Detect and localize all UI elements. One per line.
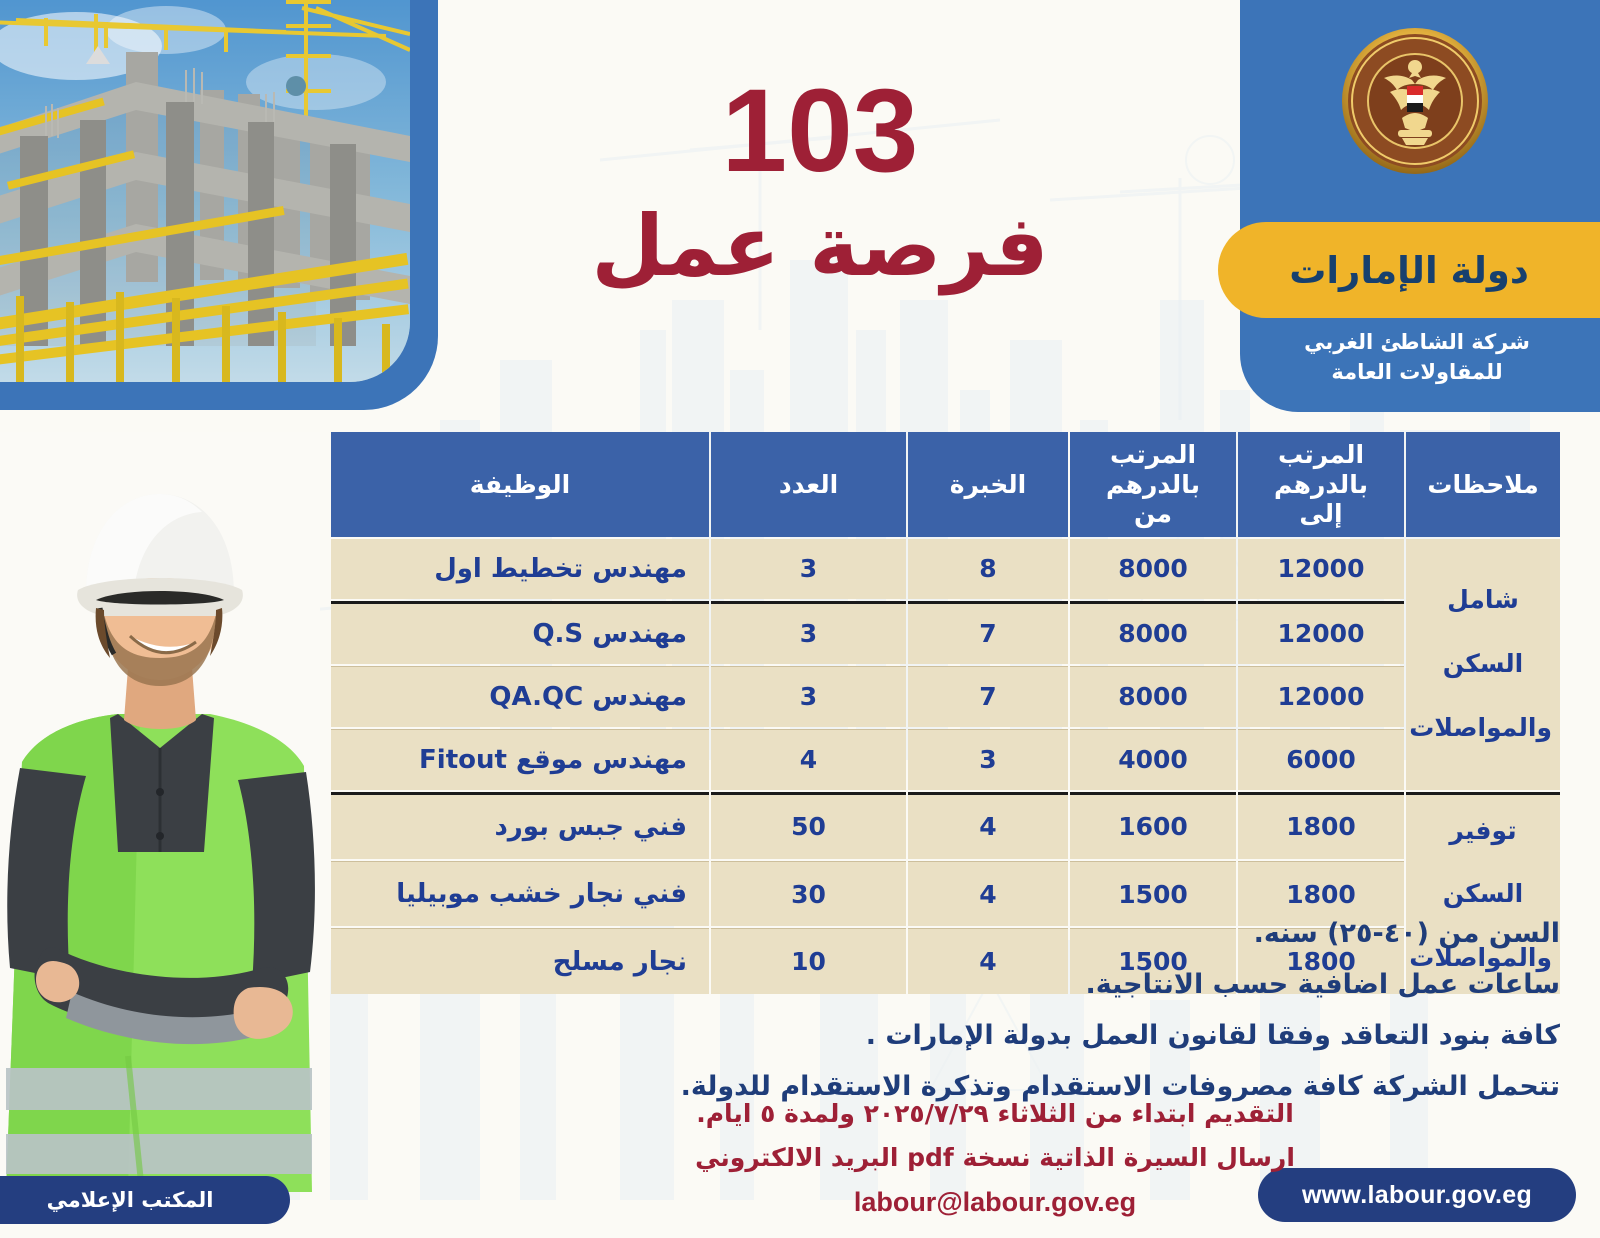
cell-salary-to: 6000 xyxy=(1238,729,1404,790)
construction-photo xyxy=(0,0,410,382)
col-header-salary-from-l2: بالدرهم xyxy=(1074,470,1232,500)
cell-salary-from: 1500 xyxy=(1070,861,1236,926)
company-name: شركة الشاطئ الغربي للمقاولات العامة xyxy=(1252,328,1582,388)
cell-salary-to: 1800 xyxy=(1238,792,1404,860)
cell-count: 3 xyxy=(711,539,906,599)
col-header-notes-l1: ملاحظات xyxy=(1410,470,1556,500)
cell-salary-from: 4000 xyxy=(1070,729,1236,790)
cell-count: 3 xyxy=(711,601,906,664)
col-header-salary-from-l3: من xyxy=(1074,499,1232,529)
cell-count: 30 xyxy=(711,861,906,926)
notes-group-cell: شامل السكن والمواصلات xyxy=(1406,539,1560,790)
cell-experience: 3 xyxy=(908,729,1068,790)
table-row: 1800 1500 4 30 فني نجار خشب موبيليا xyxy=(331,861,1560,926)
col-header-notes: ملاحظات xyxy=(1406,432,1560,537)
cell-salary-to: 1800 xyxy=(1238,861,1404,926)
apply-date-line: التقديم ابتداء من الثلاثاء ٢٠٢٥/٧/٢٩ ولم… xyxy=(430,1096,1560,1132)
notes-line: توفير xyxy=(1414,799,1552,863)
cell-count: 4 xyxy=(711,729,906,790)
col-header-experience: الخبرة xyxy=(908,432,1068,537)
cell-salary-from: 8000 xyxy=(1070,666,1236,727)
jobs-table-wrapper: ملاحظات المرتب بالدرهم إلى المرتب بالدره… xyxy=(343,430,1562,996)
cell-role: مهندس تخطيط اول xyxy=(331,539,709,599)
condition-item: السن من (٤٠-٢٥) سنه. xyxy=(560,920,1560,947)
cell-role: مهندس موقع Fitout xyxy=(331,729,709,790)
notes-line: السكن xyxy=(1414,862,1552,926)
cell-experience: 8 xyxy=(908,539,1068,599)
cell-salary-from: 1600 xyxy=(1070,792,1236,860)
col-header-salary-from-l1: المرتب xyxy=(1074,440,1232,470)
country-banner: دولة الإمارات xyxy=(1218,222,1600,318)
cell-salary-to: 12000 xyxy=(1238,601,1404,664)
cell-salary-to: 12000 xyxy=(1238,666,1404,727)
table-row: 12000 8000 7 3 مهندس Q.S xyxy=(331,601,1560,664)
cell-experience: 7 xyxy=(908,601,1068,664)
notes-line: شامل xyxy=(1414,568,1552,632)
col-header-count-l1: العدد xyxy=(715,470,902,500)
col-header-role-l1: الوظيفة xyxy=(335,470,705,500)
company-line-1: شركة الشاطئ الغربي xyxy=(1252,328,1582,358)
jobs-table: ملاحظات المرتب بالدرهم إلى المرتب بالدره… xyxy=(329,430,1562,996)
table-row: توفير السكن والمواصلات 1800 1600 4 50 فن… xyxy=(331,792,1560,860)
media-office-badge: المكتب الإعلامي xyxy=(0,1176,290,1224)
apply-cv-line: ارسال السيرة الذاتية نسخة pdf البريد الا… xyxy=(430,1140,1560,1176)
notes-line: والمواصلات xyxy=(1414,696,1552,760)
table-row: 6000 4000 3 4 مهندس موقع Fitout xyxy=(331,729,1560,790)
company-line-2: للمقاولات العامة xyxy=(1252,358,1582,388)
col-header-salary-to-l3: إلى xyxy=(1242,499,1400,529)
conditions-list: السن من (٤٠-٢٥) سنه. ساعات عمل اضافية حس… xyxy=(560,920,1560,1124)
cell-salary-from: 8000 xyxy=(1070,601,1236,664)
col-header-role: الوظيفة xyxy=(331,432,709,537)
country-label: دولة الإمارات xyxy=(1289,249,1529,292)
col-header-experience-l1: الخبرة xyxy=(912,470,1064,500)
cell-count: 3 xyxy=(711,666,906,727)
apply-email[interactable]: labour@labour.gov.eg xyxy=(854,1183,1136,1221)
condition-item: كافة بنود التعاقد وفقا لقانون العمل بدول… xyxy=(560,1022,1560,1049)
table-row: 12000 8000 7 3 مهندس QA.QC xyxy=(331,666,1560,727)
col-header-salary-to-l1: المرتب xyxy=(1242,440,1400,470)
worker-photo xyxy=(0,432,320,1192)
media-office-label: المكتب الإعلامي xyxy=(47,1188,214,1212)
table-header-row: ملاحظات المرتب بالدرهم إلى المرتب بالدره… xyxy=(331,432,1560,537)
cell-role: فني جبس بورد xyxy=(331,792,709,860)
cell-experience: 4 xyxy=(908,861,1068,926)
cell-role: مهندس QA.QC xyxy=(331,666,709,727)
construction-photo-frame xyxy=(0,0,438,410)
cell-experience: 7 xyxy=(908,666,1068,727)
cell-experience: 4 xyxy=(908,792,1068,860)
poster-root: وزارة العمل Ministry of Labour دولة الإم… xyxy=(0,0,1600,1238)
apply-info: التقديم ابتداء من الثلاثاء ٢٠٢٥/٧/٢٩ ولم… xyxy=(430,1096,1560,1229)
headline-subtitle: فرصة عمل xyxy=(530,200,1110,292)
ministry-of-labour-logo-icon: وزارة العمل Ministry of Labour xyxy=(1340,26,1490,176)
job-count: 103 xyxy=(530,70,1110,194)
cell-count: 50 xyxy=(711,792,906,860)
table-row: شامل السكن والمواصلات 12000 8000 8 3 مهن… xyxy=(331,539,1560,599)
cell-role: فني نجار خشب موبيليا xyxy=(331,861,709,926)
col-header-salary-to: المرتب بالدرهم إلى xyxy=(1238,432,1404,537)
notes-line: السكن xyxy=(1414,632,1552,696)
cell-salary-to: 12000 xyxy=(1238,539,1404,599)
cell-salary-from: 8000 xyxy=(1070,539,1236,599)
headline: 103 فرصة عمل xyxy=(530,70,1110,292)
cell-role: مهندس Q.S xyxy=(331,601,709,664)
col-header-count: العدد xyxy=(711,432,906,537)
condition-item: ساعات عمل اضافية حسب الانتاجية. xyxy=(560,971,1560,998)
col-header-salary-from: المرتب بالدرهم من xyxy=(1070,432,1236,537)
col-header-salary-to-l2: بالدرهم xyxy=(1242,470,1400,500)
